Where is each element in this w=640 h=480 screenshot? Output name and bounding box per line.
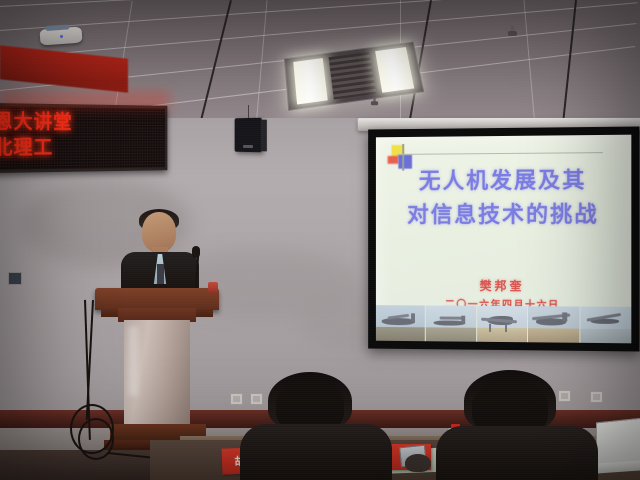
led-banner-line-2: 北理工	[0, 136, 53, 161]
audience-hand	[405, 454, 431, 472]
audience-body	[240, 424, 392, 480]
presenter	[122, 212, 198, 294]
conference-room-photo: 恩大讲堂 北理工 无人机发展及其 对信息技术的挑战 樊邦奎 二〇一六年四月十六日	[0, 0, 640, 480]
audience-body	[436, 426, 598, 480]
wall-loudspeaker	[235, 118, 262, 153]
speaker-side	[261, 120, 267, 152]
slide-author: 樊邦奎	[376, 277, 631, 295]
slide-title-line-1: 无人机发展及其	[376, 165, 631, 196]
drinking-cup	[208, 282, 218, 293]
uav-photo	[426, 305, 477, 341]
wall-outlet	[590, 391, 603, 403]
detector-top	[45, 24, 69, 31]
uav-photo	[376, 305, 426, 341]
audience-member-right	[450, 370, 580, 480]
uav-photo	[477, 306, 528, 342]
slide-image-strip	[376, 305, 631, 343]
detector-led	[60, 35, 63, 38]
led-glow	[0, 92, 170, 108]
presentation-slide: 无人机发展及其 对信息技术的挑战 樊邦奎 二〇一六年四月十六日	[376, 135, 631, 344]
logo-red-square	[388, 156, 399, 164]
podium-column	[124, 320, 190, 428]
wall-outlet	[230, 393, 243, 405]
laptop-screen	[596, 418, 640, 467]
audience-member-left	[250, 372, 380, 480]
ceiling-grid-line	[0, 0, 638, 31]
uav-photo	[580, 307, 631, 344]
wall-plate	[8, 272, 22, 285]
microphone-icon	[192, 246, 200, 258]
ceiling-light-fixture	[284, 41, 424, 110]
presenter-tie	[157, 264, 164, 284]
uav-photo	[528, 306, 580, 343]
presenter-head	[142, 212, 176, 252]
sprinkler-cap	[371, 101, 378, 105]
ceiling-grid-line	[0, 0, 639, 7]
speaker-brand-plate	[243, 145, 253, 148]
led-banner-line-1: 恩大讲堂	[0, 110, 73, 135]
speaker-mount	[248, 105, 249, 119]
slide-title-line-2: 对信息技术的挑战	[376, 199, 631, 230]
ceiling-grid-line	[0, 2, 638, 59]
sprinkler-head-icon	[508, 26, 517, 38]
led-scrolling-banner: 恩大讲堂 北理工	[0, 103, 167, 173]
light-tube	[375, 47, 414, 93]
smoke-detector-icon	[39, 27, 82, 46]
light-tube	[293, 58, 327, 104]
light-louver	[329, 52, 377, 100]
sprinkler-head-icon	[371, 97, 378, 107]
sprinkler-cap	[508, 31, 517, 36]
projection-screen: 无人机发展及其 对信息技术的挑战 樊邦奎 二〇一六年四月十六日	[368, 126, 639, 351]
podium-top	[95, 288, 219, 310]
slide-divider-line	[397, 152, 602, 155]
